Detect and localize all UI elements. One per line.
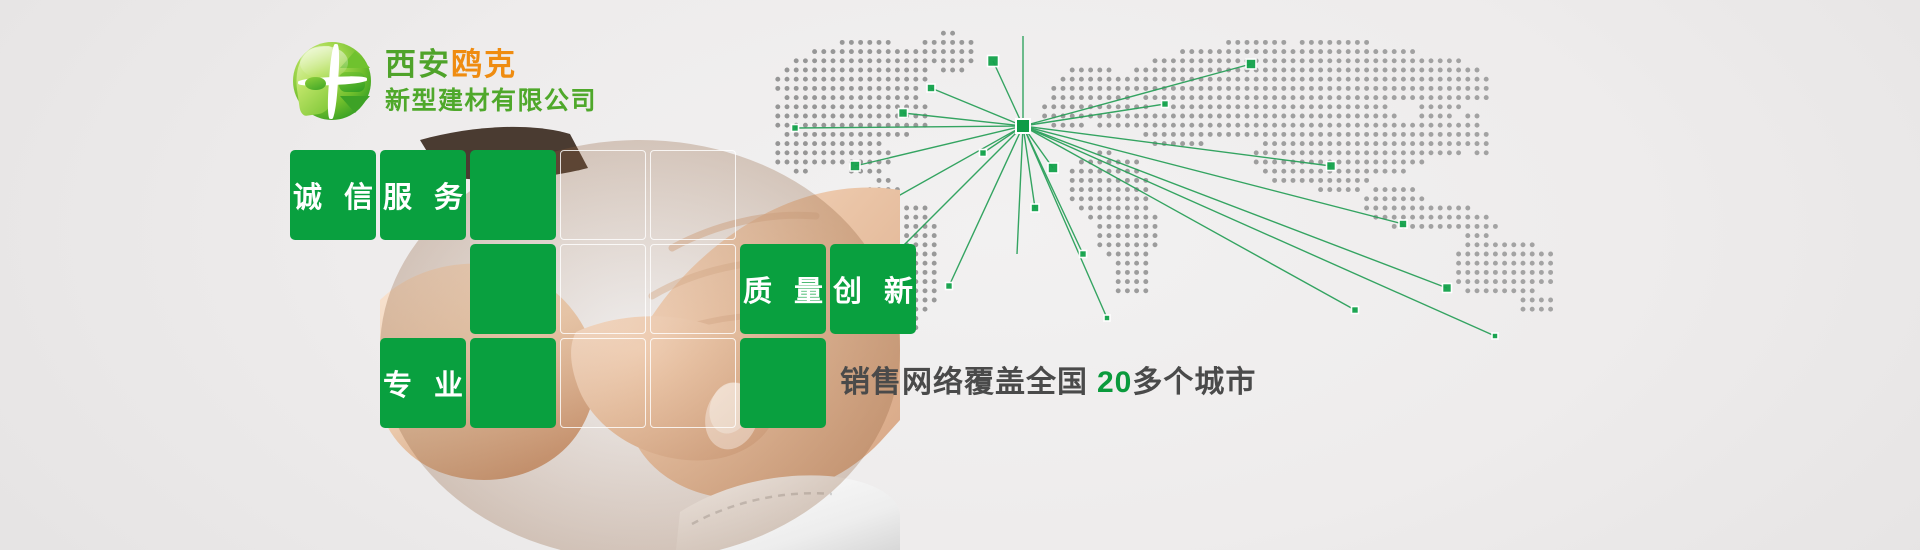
caption-suffix: 多个城市 <box>1132 366 1256 399</box>
company-banner: 诚 信 服 务 质 量 创 新 专 业 <box>0 0 1920 550</box>
value-tile-label: 质 量 <box>740 244 826 334</box>
value-tile-service[interactable]: 服 务 <box>380 150 466 240</box>
value-tile-label: 创 新 <box>830 244 916 334</box>
caption-highlight-number: 20 <box>1097 366 1132 399</box>
company-name-city: 西安 <box>385 47 451 82</box>
value-tile-outline-r1c4 <box>560 150 646 240</box>
sales-network-caption: 销售网络覆盖全国20多个城市 <box>840 357 1256 401</box>
value-tile-outline-r3c5 <box>650 338 736 428</box>
company-name-text: 西安鸥克 新型建材有限公司 <box>385 49 597 114</box>
value-tile-filler-r1c3 <box>470 150 556 240</box>
value-tile-outline-r3c4 <box>560 338 646 428</box>
value-tile-label: 专 业 <box>380 338 466 428</box>
value-tile-label: 服 务 <box>380 150 466 240</box>
company-name-line1: 西安鸥克 <box>385 49 597 80</box>
value-tile-integrity[interactable]: 诚 信 <box>290 150 376 240</box>
value-tile-quality[interactable]: 质 量 <box>740 244 826 334</box>
company-name-line2: 新型建材有限公司 <box>385 89 597 114</box>
value-tile-outline-r2c4 <box>560 244 646 334</box>
value-tile-expertise[interactable]: 专 业 <box>380 338 466 428</box>
company-logo[interactable]: 西安鸥克 新型建材有限公司 <box>293 42 597 120</box>
value-tile-label: 诚 信 <box>290 150 376 240</box>
company-name-brand: 鸥克 <box>451 47 517 82</box>
value-tile-filler-r2c3 <box>470 244 556 334</box>
caption-prefix: 销售网络覆盖全国 <box>840 366 1088 399</box>
value-tile-innovation[interactable]: 创 新 <box>830 244 916 334</box>
value-tile-outline-r1c5 <box>650 150 736 240</box>
value-tile-filler-r3c6 <box>740 338 826 428</box>
value-tile-grid: 诚 信 服 务 质 量 创 新 专 业 <box>290 150 910 420</box>
globe-leaf-icon <box>293 42 371 120</box>
value-tile-filler-r3c3 <box>470 338 556 428</box>
value-tile-outline-r2c5 <box>650 244 736 334</box>
